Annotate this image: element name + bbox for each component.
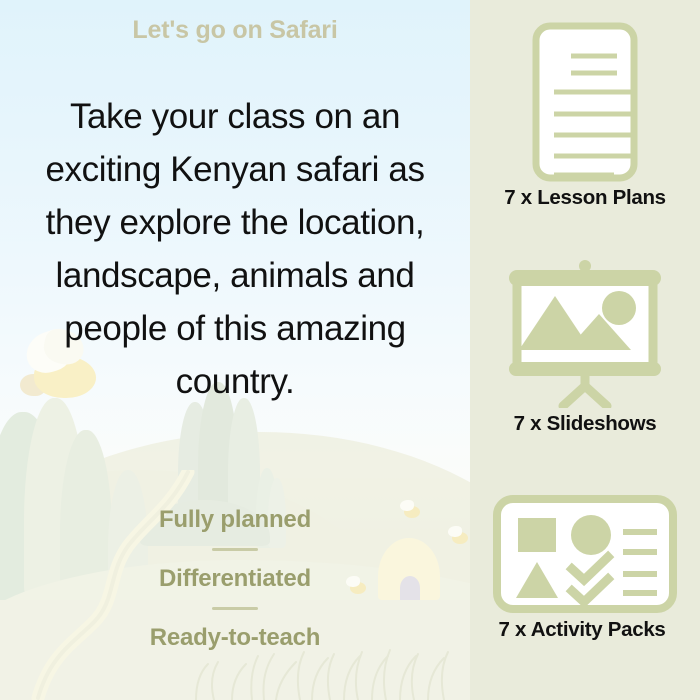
feature-item-differentiated: Differentiated <box>0 564 470 594</box>
activity-card-icon <box>492 494 678 614</box>
kicker-title: Let's go on Safari <box>0 16 470 45</box>
safari-promo-poster: Let's go on Safari Take your class on an… <box>0 0 700 700</box>
resource-label-slideshows: 7 x Slideshows <box>470 412 700 436</box>
feature-divider <box>212 607 258 610</box>
left-content-panel: Let's go on Safari Take your class on an… <box>0 0 470 700</box>
headline-text: Take your class on an exciting Kenyan sa… <box>28 90 442 408</box>
feature-item-fully-planned: Fully planned <box>0 505 470 535</box>
document-icon <box>510 22 660 182</box>
feature-list: Fully planned Differentiated Ready-to-te… <box>0 505 470 653</box>
resource-item-lesson-plans: 7 x Lesson Plans <box>470 22 700 210</box>
resource-label-lesson-plans: 7 x Lesson Plans <box>470 186 700 210</box>
presentation-screen-icon <box>495 258 675 408</box>
resource-label-activity-packs: 7 x Activity Packs <box>464 618 700 642</box>
resource-sidebar: 7 x Lesson Plans 7 x <box>470 0 700 700</box>
resource-item-slideshows: 7 x Slideshows <box>470 258 700 436</box>
resource-item-activity-packs: 7 x Activity Packs <box>470 494 700 642</box>
feature-item-ready-to-teach: Ready-to-teach <box>0 623 470 653</box>
feature-divider <box>212 548 258 551</box>
